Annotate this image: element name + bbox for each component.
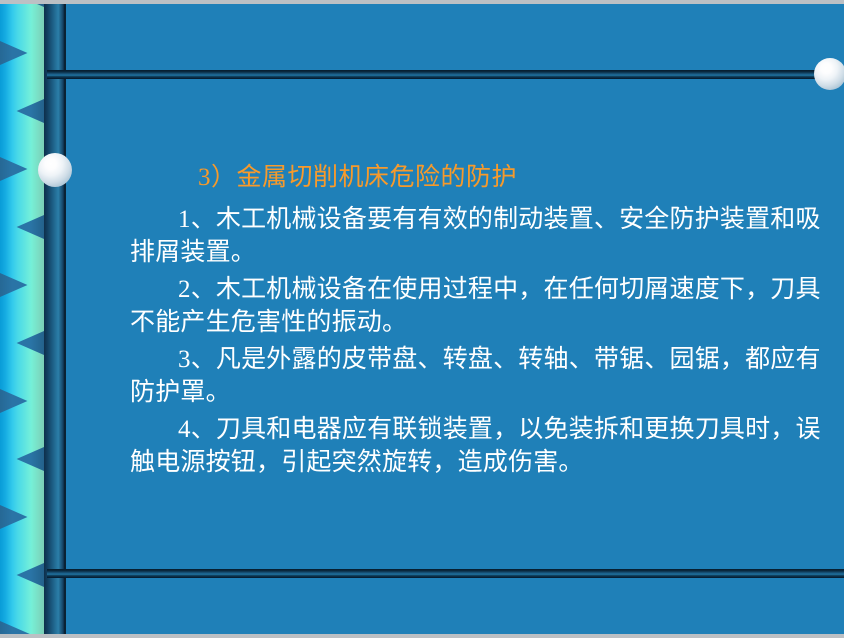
slide-content: 3）金属切削机床危险的防护 1、木工机械设备要有有效的制动装置、安全防护装置和吸…: [68, 84, 828, 564]
ribbon-decoration: [0, 4, 44, 634]
divider-rail-inner: [47, 569, 844, 578]
body-paragraph-4: 4、刀具和电器应有联锁装置，以免装拆和更换刀具时，误触电源按钮，引起突然旋转，造…: [130, 413, 830, 479]
sphere-bullet-left: [38, 153, 72, 187]
body-paragraph-2: 2、木工机械设备在使用过程中，在任何切屑速度下，刀具不能产生危害性的振动。: [130, 273, 830, 339]
body-paragraph-1: 1、木工机械设备要有有效的制动装置、安全防护装置和吸排屑装置。: [130, 203, 830, 269]
slide-canvas: 3）金属切削机床危险的防护 1、木工机械设备要有有效的制动装置、安全防护装置和吸…: [0, 0, 844, 638]
pillar-edge-line: [64, 4, 66, 634]
body-paragraph-3: 3、凡是外露的皮带盘、转盘、转轴、带锯、园锯，都应有防护罩。: [130, 343, 830, 409]
sphere-bullet-right: [814, 58, 844, 90]
vertical-pillar-decoration: [44, 4, 65, 634]
divider-rail-inner: [47, 70, 844, 79]
slide-edge-top: [0, 0, 844, 4]
divider-rail-bottom: [47, 569, 844, 578]
slide-edge-bottom: [0, 634, 844, 638]
page-title: 3）金属切削机床危险的防护: [198, 162, 828, 194]
divider-rail-top: [47, 70, 844, 79]
ribbon-band: [0, 566, 44, 634]
